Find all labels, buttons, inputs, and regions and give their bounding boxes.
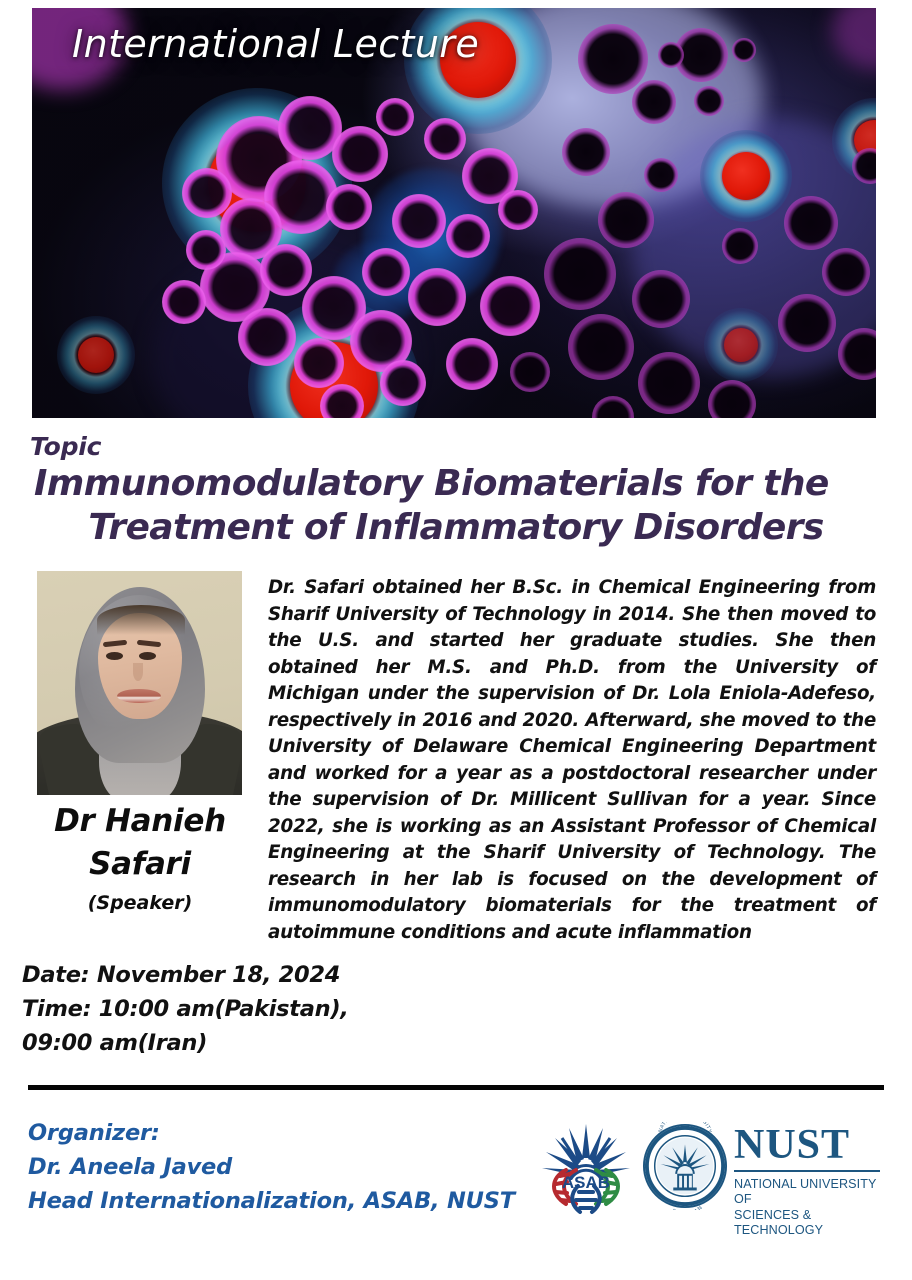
asab-logo: ASAB <box>536 1118 636 1216</box>
speaker-portrait <box>37 571 242 795</box>
speaker-role: (Speaker) <box>14 892 266 914</box>
logo-row: ASAB NATIONAL UNIVERSITY OF SCIENCES & T… <box>536 1118 884 1218</box>
hero-banner: International Lecture <box>32 8 876 418</box>
lecture-title: Immunomodulatory Biomaterials for the Tr… <box>28 462 884 550</box>
organizer-label: Organizer: <box>28 1117 515 1151</box>
nust-wordmark-rule <box>734 1170 880 1172</box>
nust-wordmark-subtitle-line-1: NATIONAL UNIVERSITY OF <box>734 1177 884 1208</box>
organizer-designation: Head Internationalization, ASAB, NUST <box>28 1185 515 1219</box>
topic-label: Topic <box>30 432 101 461</box>
speaker-name-line-1: Dr Hanieh <box>14 800 266 843</box>
organizer-name: Dr. Aneela Javed <box>28 1151 515 1185</box>
microscopy-cells-image <box>32 8 876 418</box>
nust-wordmark-subtitle: NATIONAL UNIVERSITY OF SCIENCES & TECHNO… <box>734 1177 884 1238</box>
nust-wordmark-subtitle-line-2: SCIENCES & TECHNOLOGY <box>734 1208 884 1239</box>
asab-logo-text: ASAB <box>562 1173 610 1192</box>
nust-wordmark-main: NUST <box>734 1126 884 1166</box>
lecture-poster: International Lecture Topic Immunomodula… <box>0 0 912 1280</box>
speaker-name: Dr Hanieh Safari <box>14 800 266 886</box>
lecture-title-line-2: Treatment of Inflammatory Disorders <box>28 506 884 550</box>
nust-seal-logo: NATIONAL UNIVERSITY OF SCIENCES & TECHNO… <box>642 1122 728 1210</box>
section-divider <box>28 1085 884 1090</box>
organizer-block: Organizer: Dr. Aneela Javed Head Interna… <box>28 1117 515 1218</box>
event-time-pakistan: Time: 10:00 am(Pakistan), <box>22 992 349 1026</box>
schedule-block: Date: November 18, 2024 Time: 10:00 am(P… <box>22 958 349 1061</box>
speaker-portrait-image <box>37 571 242 795</box>
hero-banner-text: International Lecture <box>72 22 479 66</box>
event-time-iran: 09:00 am(Iran) <box>22 1026 349 1060</box>
speaker-name-line-2: Safari <box>14 843 266 886</box>
nust-wordmark-logo: NUST NATIONAL UNIVERSITY OF SCIENCES & T… <box>734 1126 884 1210</box>
lecture-title-line-1: Immunomodulatory Biomaterials for the <box>28 462 884 506</box>
event-date: Date: November 18, 2024 <box>22 958 349 992</box>
speaker-bio: Dr. Safari obtained her B.Sc. in Chemica… <box>268 575 876 946</box>
